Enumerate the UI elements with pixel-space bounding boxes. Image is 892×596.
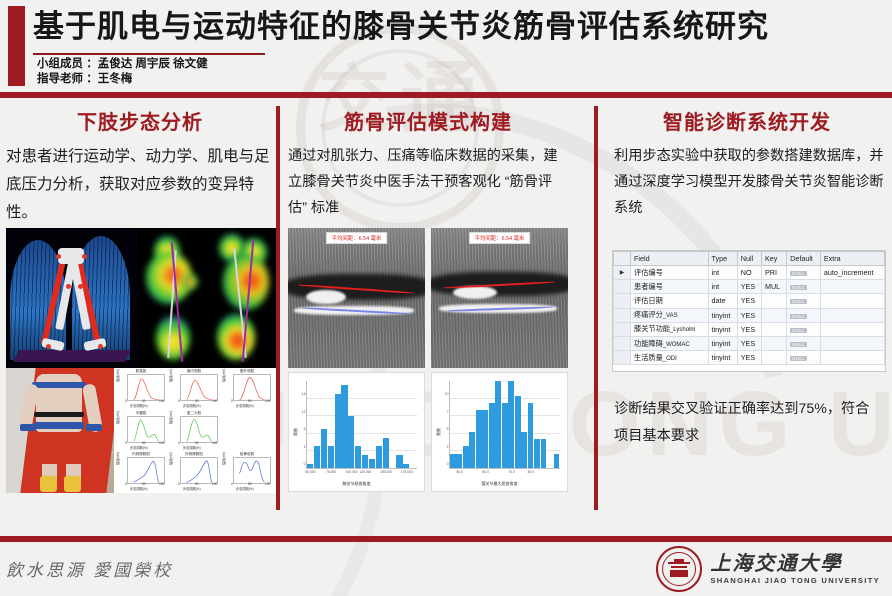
cell-null: YES [737, 294, 761, 308]
histogram-bar [362, 455, 368, 468]
emg-xlabel: 步态周期(%) [130, 403, 148, 408]
title-underline [33, 53, 265, 55]
cell-key [762, 336, 787, 350]
cell-field: 疼痛评分_VAS [631, 308, 709, 322]
column-3-title: 智能诊断系统开发 [608, 106, 886, 135]
cell-key: PRI [762, 266, 787, 280]
column-gait-analysis: 下肢步态分析 对患者进行运动学、动力学、肌电与足底压力分析，获取对应参数的变异特… [6, 100, 274, 227]
emg-plot-axes [180, 457, 218, 484]
histogram-2-xlabel: 髋关节最大屈曲角度 [432, 481, 567, 487]
histogram-bar [489, 403, 495, 468]
header-accent-bar [8, 6, 25, 86]
x-tick-label: 120.000 [359, 470, 371, 474]
histogram-bar [369, 459, 375, 468]
poster-slide: 交 通 JIAO TONG UNIVERSITY 基于肌电与运动特征的膝骨关节炎… [0, 0, 892, 596]
emg-plot-axes [127, 457, 165, 484]
emg-x-tick: 0 [178, 399, 180, 403]
histogram-chart-2: 频数 50.060.070.080.0025710 髋关节最大屈曲角度 [431, 372, 568, 492]
null-badge: NULL [790, 314, 807, 319]
row-selector [614, 280, 631, 294]
table-col-header[interactable]: Default [787, 252, 821, 266]
cell-default: NULL [787, 294, 821, 308]
x-tick-label: 80.0 [528, 470, 534, 474]
histogram-bar [383, 438, 389, 468]
cell-type: tinyint [708, 351, 737, 365]
histogram-chart-1: 频数 50.00070.000100.000120.000150.000175.… [288, 372, 425, 492]
histogram-bar [341, 385, 347, 468]
conclusion-text: 诊断结果交叉验证正确率达到75%，符合项目基本要求 [614, 396, 882, 450]
emg-x-tick: 100 [212, 441, 217, 445]
column-divider-1 [276, 106, 280, 510]
y-tick-label: 4 [304, 445, 306, 449]
column-diagnosis-system: 智能诊断系统开发 利用步态实验中获取的参数搭建数据库，并通过深度学习模型开发膝骨… [608, 100, 886, 221]
author-block: 小组成员 ：孟俊达 周宇辰 徐文健 指导老师 ：王冬梅 [37, 57, 208, 87]
emg-x-tick: 100 [265, 399, 270, 403]
cell-extra [820, 336, 884, 350]
ultrasound-label-right: 平均间距：6.54 毫米 [469, 232, 531, 244]
table-col-header[interactable]: Extra [820, 252, 884, 266]
ultrasound-row: 平均间距：6.54 毫米 平均间距：6.54 毫米 [288, 228, 568, 368]
database-schema-table[interactable]: FieldTypeNullKeyDefaultExtra ▶评估编号intNOP… [612, 250, 886, 372]
histogram-bar [521, 432, 527, 468]
x-tick-label: 50.0 [456, 470, 462, 474]
ultrasound-label-left: 平均间距：6.54 毫米 [326, 232, 388, 244]
emg-x-tick: 0 [231, 399, 233, 403]
y-tick-label: 7 [447, 410, 449, 414]
y-tick-label: 0 [447, 462, 449, 466]
table-col-header[interactable]: Type [708, 252, 737, 266]
emg-plot-axes [233, 374, 271, 401]
column-divider-2 [594, 106, 598, 510]
cell-extra [820, 308, 884, 322]
emg-xlabel: 步态周期(%) [183, 486, 201, 491]
emg-xlabel: 步态周期(%) [236, 486, 254, 491]
cell-field: 评估日期 [631, 294, 709, 308]
table-row[interactable]: 患者编号intYESMULNULL [614, 280, 885, 294]
ultrasound-image-left: 平均间距：6.54 毫米 [288, 228, 425, 368]
column-2-body: 通过对肌张力、压痛等临床数据的采集，建立膝骨关节炎中医手法干预客观化 “筋骨评估… [288, 143, 568, 221]
gait-lab-row: 股直肌幅值(mV)050100步态周期(%)股内侧肌幅值(mV)050100步态… [6, 368, 276, 493]
grid-line [450, 398, 560, 399]
emg-x-tick: 100 [212, 482, 217, 486]
null-badge: NULL [790, 342, 807, 347]
table-row[interactable]: 评估日期dateYESNULL [614, 294, 885, 308]
cell-null: YES [737, 336, 761, 350]
x-tick-label: 150.000 [380, 470, 392, 474]
cell-extra [820, 280, 884, 294]
null-badge: NULL [790, 356, 807, 361]
histogram-bar [534, 439, 540, 468]
emg-x-tick: 0 [178, 441, 180, 445]
cell-field: 功能障碍_WOMAC [631, 336, 709, 350]
gait-media-row [6, 228, 276, 368]
emg-ylabel: 幅值(mV) [168, 452, 173, 465]
footer-divider [0, 536, 892, 542]
histogram-bar [307, 464, 313, 468]
gait-3d-model [6, 228, 138, 368]
emg-ylabel: 幅值(mV) [168, 369, 173, 382]
histogram-bar [403, 464, 409, 468]
emg-ylabel: 幅值(mV) [115, 369, 120, 382]
row-selector [614, 308, 631, 322]
x-tick-label: 50.000 [305, 470, 315, 474]
emg-ylabel: 幅值(mV) [168, 410, 173, 423]
cell-default: NULL [787, 322, 821, 336]
motion-capture-photo [6, 368, 114, 493]
x-tick-label: 175.000 [401, 470, 413, 474]
column-1-body: 对患者进行运动学、动力学、肌电与足底压力分析，获取对应参数的变异特性。 [6, 143, 274, 227]
histogram-bar [554, 454, 560, 469]
histogram-bar [482, 410, 488, 468]
y-tick-label: 16 [302, 392, 306, 396]
histogram-bar [348, 416, 354, 468]
emg-x-tick: 0 [125, 399, 127, 403]
histogram-bar [450, 454, 456, 469]
histogram-bar [321, 429, 327, 468]
histogram-1-xlabel: 膝关节屈曲角度 [289, 481, 424, 487]
y-tick-label: 0 [304, 462, 306, 466]
cell-default: NULL [787, 351, 821, 365]
members-line: 小组成员 ：孟俊达 周宇辰 徐文健 [37, 57, 208, 72]
row-selector [614, 336, 631, 350]
table-row[interactable]: 生活质量_ODItinyintYESNULL [614, 351, 885, 365]
histogram-bar [495, 381, 501, 468]
emg-plot-axes [233, 457, 271, 484]
histogram-row: 频数 50.00070.000100.000120.000150.000175.… [288, 372, 568, 492]
cell-extra [820, 294, 884, 308]
table-row[interactable]: 功能障碍_WOMACtinyintYESNULL [614, 336, 885, 350]
cell-key [762, 308, 787, 322]
null-badge: NULL [790, 271, 807, 276]
histogram-bar [396, 455, 402, 468]
cell-field: 膝关节功能_Lysholm [631, 322, 709, 336]
plantar-pressure-right [207, 228, 276, 368]
histogram-bar [328, 446, 334, 468]
table-col-header[interactable]: Null [737, 252, 761, 266]
column-assessment-model: 筋骨评估模式构建 通过对肌张力、压痛等临床数据的采集，建立膝骨关节炎中医手法干预… [288, 100, 568, 221]
histogram-bar [508, 381, 514, 468]
histogram-bar [335, 394, 341, 468]
header-divider [0, 92, 892, 98]
null-badge: NULL [790, 328, 807, 333]
emg-x-tick: 0 [231, 482, 233, 486]
histogram-bar [355, 446, 361, 468]
university-motto: 飲水思源 愛國榮校 [6, 556, 173, 581]
null-badge: NULL [790, 285, 807, 290]
row-selector [614, 294, 631, 308]
histogram-1-ylabel: 频数 [293, 428, 299, 436]
cell-type: tinyint [708, 308, 737, 322]
emg-plot-axes [180, 374, 218, 401]
grid-line [307, 398, 417, 399]
logo-name-cn: 上海交通大學 [710, 554, 880, 574]
cell-field: 患者编号 [631, 280, 709, 294]
emg-xlabel: 步态周期(%) [130, 486, 148, 491]
histogram-bar [314, 446, 320, 468]
university-logo: 上海交通大學 SHANGHAI JIAO TONG UNIVERSITY [656, 546, 880, 592]
cell-default: NULL [787, 308, 821, 322]
histogram-bar [528, 403, 534, 468]
table-col-header[interactable] [614, 252, 631, 266]
advisor-line: 指导老师 ：王冬梅 [37, 72, 208, 87]
emg-xlabel: 步态周期(%) [183, 445, 201, 450]
emg-x-tick: 100 [212, 399, 217, 403]
table-col-header[interactable]: Key [762, 252, 787, 266]
cell-type: int [708, 266, 737, 280]
emg-ylabel: 幅值(mV) [115, 410, 120, 423]
field-suffix: _Lysholm [670, 327, 695, 333]
histogram-bar [541, 439, 547, 468]
histogram-bar [376, 446, 382, 468]
emg-plot-axes [180, 416, 218, 443]
cell-null: NO [737, 266, 761, 280]
y-tick-label: 2 [447, 445, 449, 449]
page-title: 基于肌电与运动特征的膝骨关节炎筋骨评估系统研究 [33, 6, 853, 47]
emg-x-tick: 100 [159, 441, 164, 445]
cell-null: YES [737, 322, 761, 336]
y-tick-label: 10 [445, 392, 449, 396]
schema-table: FieldTypeNullKeyDefaultExtra ▶评估编号intNOP… [613, 251, 885, 365]
emg-x-tick: 100 [265, 482, 270, 486]
cell-field: 评估编号 [631, 266, 709, 280]
cell-type: tinyint [708, 322, 737, 336]
row-selector [614, 322, 631, 336]
histogram-bar [463, 446, 469, 468]
sjtu-seal-icon [656, 546, 702, 592]
cell-null: YES [737, 280, 761, 294]
column-2-title: 筋骨评估模式构建 [288, 106, 568, 135]
x-tick-label: 70.000 [326, 470, 336, 474]
y-tick-label: 8 [304, 427, 306, 431]
cell-default: NULL [787, 280, 821, 294]
x-tick-label: 60.0 [482, 470, 488, 474]
x-tick-label: 70.0 [508, 470, 514, 474]
emg-plot-axes [127, 374, 165, 401]
histogram-bar [456, 454, 462, 469]
histogram-bar [469, 432, 475, 468]
emg-x-tick: 0 [178, 482, 180, 486]
cell-type: int [708, 280, 737, 294]
y-tick-label: 12 [302, 410, 306, 414]
table-header-row: FieldTypeNullKeyDefaultExtra [614, 252, 885, 266]
emg-ylabel: 幅值(mV) [115, 452, 120, 465]
ultrasound-image-right: 平均间距：6.54 毫米 [431, 228, 568, 368]
row-selector [614, 351, 631, 365]
emg-plot-grid: 股直肌幅值(mV)050100步态周期(%)股内侧肌幅值(mV)050100步态… [114, 368, 276, 493]
column-3-body: 利用步态实验中获取的参数搭建数据库，并通过深度学习模型开发膝骨关节炎智能诊断系统 [608, 143, 886, 221]
field-suffix: _WOMAC [663, 342, 690, 348]
table-col-header[interactable]: Field [631, 252, 709, 266]
table-row[interactable]: 膝关节功能_LysholmtinyintYESNULL [614, 322, 885, 336]
emg-ylabel: 幅值(mV) [221, 369, 226, 382]
cell-key [762, 322, 787, 336]
cell-null: YES [737, 351, 761, 365]
histogram-bar [502, 403, 508, 468]
poster-header: 基于肌电与运动特征的膝骨关节炎筋骨评估系统研究 小组成员 ：孟俊达 周宇辰 徐文… [0, 0, 892, 97]
emg-xlabel: 步态周期(%) [183, 403, 201, 408]
logo-name-en: SHANGHAI JIAO TONG UNIVERSITY [710, 577, 880, 585]
table-row[interactable]: 疼痛评分_VAStinyintYESNULL [614, 308, 885, 322]
emg-x-tick: 0 [125, 441, 127, 445]
emg-xlabel: 步态周期(%) [130, 445, 148, 450]
cell-key: MUL [762, 280, 787, 294]
histogram-2-ylabel: 频数 [436, 428, 442, 436]
cell-type: tinyint [708, 336, 737, 350]
x-tick-label: 100.000 [346, 470, 358, 474]
column-1-title: 下肢步态分析 [6, 106, 274, 135]
emg-plot-axes [127, 416, 165, 443]
cell-key [762, 351, 787, 365]
emg-x-tick: 0 [125, 482, 127, 486]
row-selector: ▶ [614, 266, 631, 280]
emg-x-tick: 100 [159, 399, 164, 403]
plantar-pressure-left [138, 228, 207, 368]
emg-ylabel: 幅值(mV) [221, 452, 226, 465]
histogram-bar [476, 410, 482, 468]
cell-extra: auto_increment [820, 266, 884, 280]
emg-x-tick: 100 [159, 482, 164, 486]
grid-line [307, 415, 417, 416]
cell-type: date [708, 294, 737, 308]
cell-field: 生活质量_ODI [631, 351, 709, 365]
cell-extra [820, 322, 884, 336]
histogram-bar [515, 396, 521, 469]
field-suffix: _ODI [663, 356, 677, 362]
y-tick-label: 5 [447, 427, 449, 431]
table-row[interactable]: ▶评估编号intNOPRINULLauto_increment [614, 266, 885, 280]
emg-xlabel: 步态周期(%) [236, 403, 254, 408]
cell-extra [820, 351, 884, 365]
cell-default: NULL [787, 336, 821, 350]
field-suffix: _VAS [663, 313, 678, 319]
cell-default: NULL [787, 266, 821, 280]
null-badge: NULL [790, 299, 807, 304]
cell-key [762, 294, 787, 308]
cell-null: YES [737, 308, 761, 322]
